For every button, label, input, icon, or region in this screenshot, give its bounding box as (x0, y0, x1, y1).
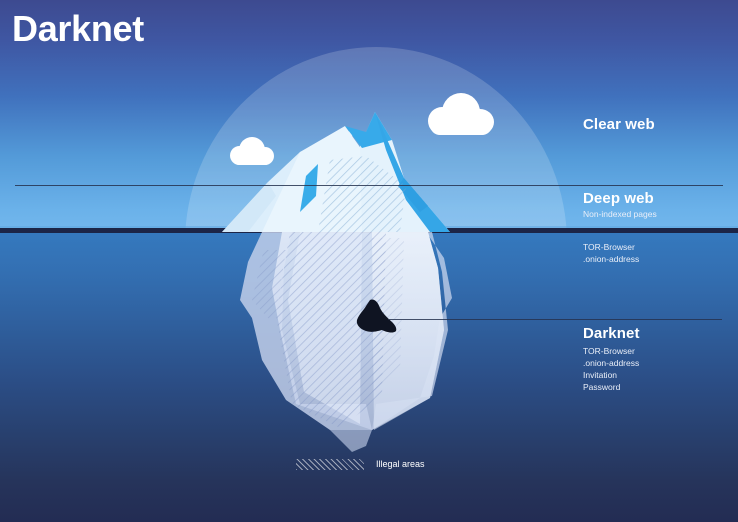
legend-label: Illegal areas (376, 458, 425, 470)
legend: Illegal areas (296, 458, 425, 470)
darknet-item: Password (583, 381, 640, 393)
infographic-canvas: Darknet Clear web Deep web Non-indexed p… (0, 0, 738, 522)
deep-web-requirement-2: .onion-address (583, 253, 639, 265)
label-darknet: Darknet TOR-Browser .onion-address Invit… (583, 325, 640, 393)
deep-web-heading: Deep web (583, 190, 657, 208)
deep-web-divider-line (15, 185, 723, 186)
iceberg-submerged (240, 232, 452, 452)
darknet-item: TOR-Browser (583, 345, 640, 357)
page-title: Darknet (12, 8, 144, 50)
darknet-item: .onion-address (583, 357, 640, 369)
clear-web-heading: Clear web (583, 116, 655, 134)
dark-cave-icon (352, 298, 400, 345)
deep-web-subtitle: Non-indexed pages (583, 208, 657, 220)
label-deep-web: Deep web Non-indexed pages (583, 190, 657, 220)
legend-hatch-swatch (296, 459, 364, 470)
darknet-connector-line (388, 319, 722, 320)
darknet-item: Invitation (583, 369, 640, 381)
darknet-heading: Darknet (583, 325, 640, 343)
iceberg-peak (222, 112, 450, 232)
label-clear-web: Clear web (583, 116, 655, 134)
deep-web-requirement-1: TOR-Browser (583, 241, 639, 253)
label-deep-web-requirements: TOR-Browser .onion-address (583, 241, 639, 265)
